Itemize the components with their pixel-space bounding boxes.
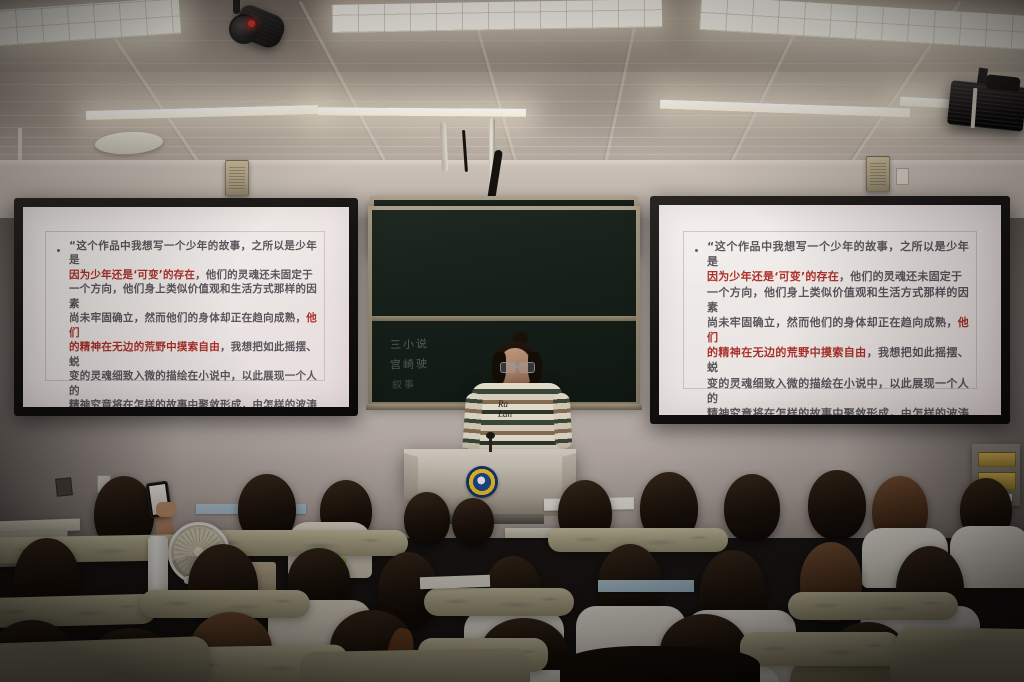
presenter-glasses-bridge — [514, 366, 519, 368]
foreground-bench — [890, 640, 1024, 682]
lecture-bench — [788, 592, 958, 620]
slide-highlight-text: 的精神在无边的荒野中摸索自由 — [69, 341, 220, 353]
ceiling-grid-line — [0, 101, 1024, 102]
left-projection-screen[interactable]: “这个作品中我想写一个少年的故事，之所以是少年是因为少年还是‘可变’的存在，他们… — [14, 198, 358, 416]
slide-plain-text: 一个方向，他们身上类似价值观和生活方式那样的因素 — [707, 286, 969, 314]
slide-line: 一个方向，他们身上类似价值观和生活方式那样的因素 — [69, 282, 317, 311]
slide-plain-text: 变的灵魂细致入微的描绘在小说中，以此展现一个人的 — [707, 377, 969, 405]
slide-line: 的精神在无边的荒野中摸索自由，我想把如此摇摆、蜕 — [69, 340, 317, 369]
lecture-hall-photo: 三小说 宫崎驶 叙事 “这个作品中我想写一个少年的故事，之所以是少年是因为少年还… — [0, 0, 1024, 682]
ceiling-grid-line — [0, 84, 1024, 85]
slide-plain-text: “这个作品中我想写一个少年的故事，之所以是少年是 — [707, 240, 969, 268]
camera-led-indicator — [248, 20, 255, 27]
ceiling-oval-fixture — [94, 130, 163, 156]
shirt-logo-text: Ra Lan — [498, 399, 512, 419]
slide-line: 精神究竟将在怎样的故事中聚敛形成，由怎样的波涛将 — [707, 406, 969, 415]
ceiling-hanger-pole — [18, 128, 22, 162]
slide-line: 的精神在无边的荒野中摸索自由，我想把如此摇摆、蜕 — [707, 345, 969, 375]
right-projection-screen[interactable]: “这个作品中我想写一个少年的故事，之所以是少年是因为少年还是‘可变’的存在，他们… — [650, 196, 1010, 424]
ceiling-light-tube — [86, 105, 318, 120]
camera-lens-icon — [229, 14, 259, 44]
wall-speaker-right — [866, 156, 890, 192]
slide-plain-text: 一个方向，他们身上类似价值观和生活方式那样的因素 — [69, 283, 317, 309]
slide-plain-text: 精神究竟将在怎样的故事中聚敛形成，由怎样的波涛将 — [69, 399, 317, 407]
chalk-text: 叙事 — [392, 376, 417, 392]
lecture-bench — [424, 588, 574, 616]
wall-speaker-left — [225, 160, 249, 196]
student-head — [724, 474, 780, 542]
slide-plain-text: “这个作品中我想写一个少年的故事，之所以是少年是 — [69, 240, 317, 266]
paper-sheet — [598, 580, 694, 592]
slide-line: 尚未牢固确立，然而他们的身体却正在趋向成熟，他们 — [707, 315, 969, 345]
student-head — [452, 498, 494, 546]
ceiling-light-tube — [318, 107, 526, 116]
presenter-right-arm — [553, 393, 573, 450]
ceiling-light-panel — [332, 0, 662, 33]
slide-body-text: “这个作品中我想写一个少年的故事，之所以是少年是因为少年还是‘可变’的存在，他们… — [707, 239, 969, 415]
student-head — [808, 470, 866, 540]
wall-outlet-upper — [896, 168, 909, 185]
chalk-text: 三小说 — [390, 335, 430, 352]
slide-highlight-text: 因为少年还是‘可变’的存在 — [707, 270, 839, 283]
slide-plain-text: ，他们的灵魂还未固定于 — [195, 269, 313, 281]
slide-plain-text: 变的灵魂细致入微的描绘在小说中，以此展现一个人的 — [69, 370, 317, 396]
slide-line: 尚未牢固确立，然而他们的身体却正在趋向成熟，他们 — [69, 311, 317, 340]
slide-line: 一个方向，他们身上类似价值观和生活方式那样的因素 — [707, 285, 969, 315]
slide-line: 因为少年还是‘可变’的存在，他们的灵魂还未固定于 — [69, 268, 317, 282]
tumbler[interactable] — [148, 536, 168, 596]
foreground-bench — [300, 648, 531, 682]
slide-highlight-text: 因为少年还是‘可变’的存在 — [69, 269, 195, 281]
student-head — [404, 492, 450, 546]
slide-line: 变的灵魂细致入微的描绘在小说中，以此展现一个人的 — [69, 369, 317, 398]
slide-body-text: “这个作品中我想写一个少年的故事，之所以是少年是因为少年还是‘可变’的存在，他们… — [69, 239, 317, 407]
presenter-glasses — [519, 362, 535, 373]
slide-line: 精神究竟将在怎样的故事中聚敛形成，由怎样的波涛将 — [69, 398, 317, 407]
slide-line: 变的灵魂细致入微的描绘在小说中，以此展现一个人的 — [707, 376, 969, 406]
slide-plain-text: 尚未牢固确立，然而他们的身体却正在趋向成熟， — [707, 316, 958, 329]
ceiling-grid-line — [0, 63, 1024, 64]
foreground-student-head — [560, 646, 760, 682]
hand — [156, 502, 176, 517]
slide-line: “这个作品中我想写一个少年的故事，之所以是少年是 — [707, 239, 969, 269]
ceiling-grid-line — [0, 127, 1024, 128]
foreground-bench — [0, 636, 211, 682]
slide-plain-text: 精神究竟将在怎样的故事中聚敛形成，由怎样的波涛将 — [707, 407, 969, 415]
slide-line: “这个作品中我想写一个少年的故事，之所以是少年是 — [69, 239, 317, 268]
slide-plain-text: 尚未牢固确立，然而他们的身体却正在趋向成熟， — [69, 312, 306, 324]
slide-line: 因为少年还是‘可变’的存在，他们的灵魂还未固定于 — [707, 269, 969, 284]
slide-plain-text: ，他们的灵魂还未固定于 — [839, 270, 962, 283]
paper-sheet — [420, 575, 490, 589]
chalk-text: 宫崎驶 — [390, 355, 430, 372]
podium-microphone — [486, 432, 495, 439]
slide-highlight-text: 的精神在无边的荒野中摸索自由 — [707, 346, 867, 359]
lecture-bench — [740, 632, 900, 666]
podium-microphone-stand — [489, 438, 492, 452]
